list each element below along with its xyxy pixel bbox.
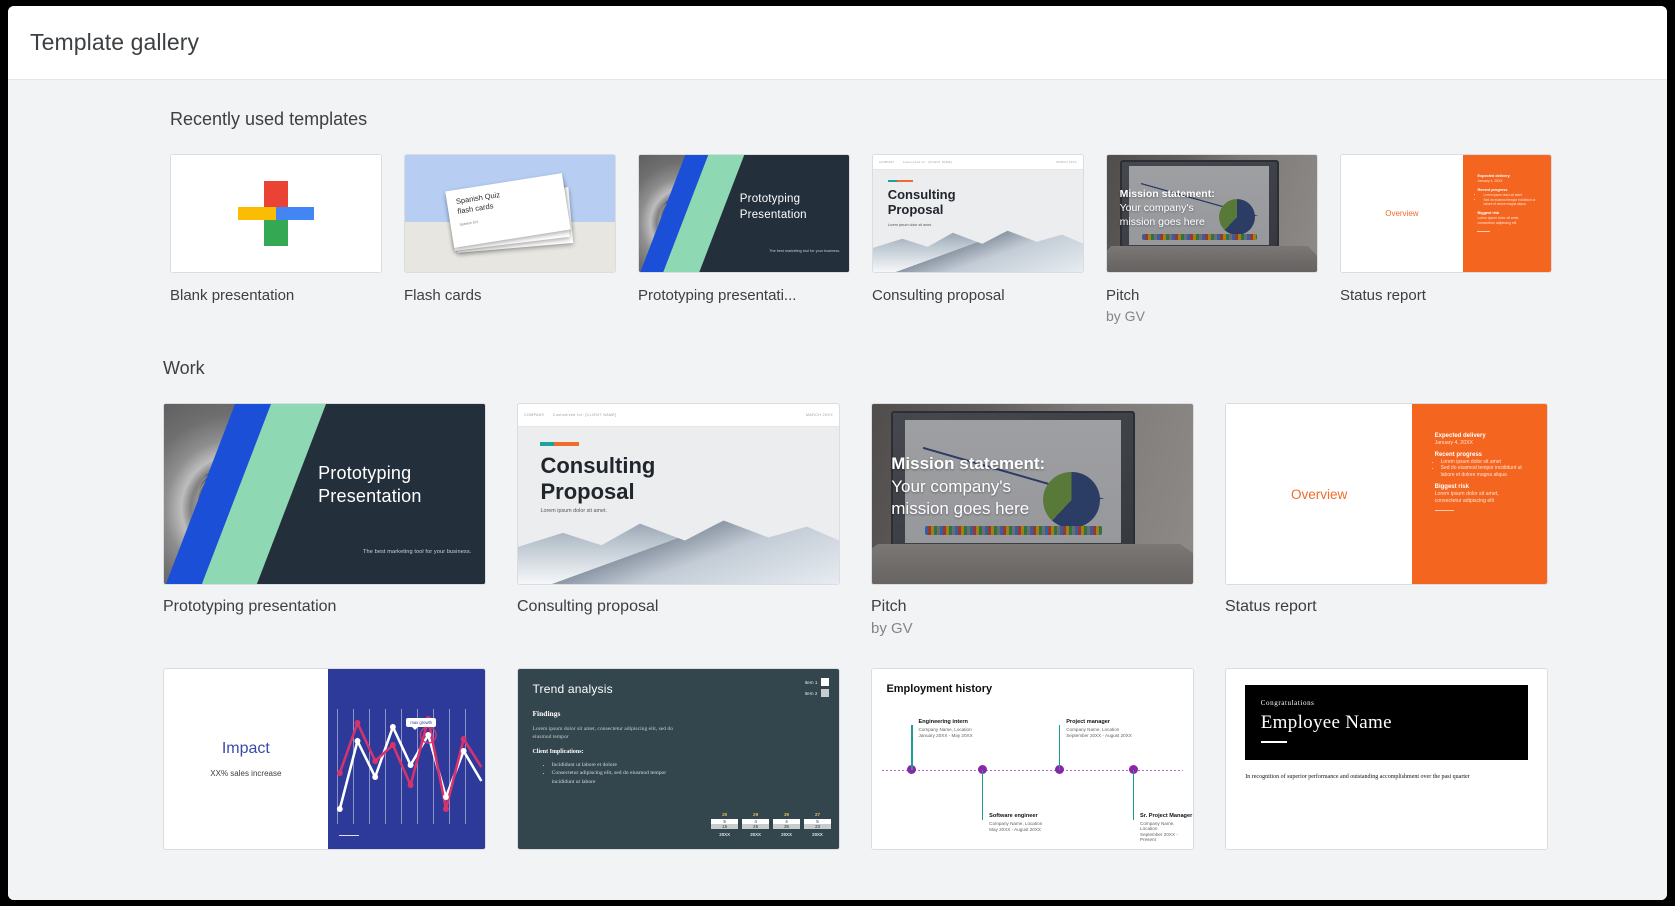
status-overview-label: Overview — [1291, 487, 1347, 502]
template-label: Flash cards — [404, 287, 609, 304]
page-title: Template gallery — [30, 29, 199, 56]
template-author: by GV — [1106, 308, 1318, 324]
trend-bullet-2: Consectetur adipiscing elit, sed do eius… — [552, 769, 682, 786]
consult-date: MARCH 20XX — [1056, 161, 1077, 164]
impact-title: Impact — [222, 740, 270, 758]
status-h3: Biggest risk — [1435, 484, 1525, 490]
timeline-entry: Software engineer Company Name, Location… — [989, 813, 1042, 832]
template-author: by GV — [871, 620, 1194, 637]
employment-history-art: Employment history Engineering — [872, 669, 1193, 849]
template-card-employment-history[interactable]: Employment history Engineering — [871, 668, 1194, 850]
consulting-art: COMPANY Customized for: [CLIENT NAME] MA… — [873, 155, 1083, 272]
pitch-line3: mission goes here — [1120, 215, 1215, 229]
status-b2: Sed do eiusmod tempor incididunt ut labo… — [1441, 465, 1525, 479]
pitch-line1: Mission statement: — [1120, 188, 1215, 200]
consult-subtitle: Lorem ipsum dolor sit amet. — [540, 508, 607, 514]
congrats-label: Congratulations — [1261, 699, 1512, 707]
timeline-axis — [882, 770, 1184, 771]
template-card-consulting-proposal-large[interactable]: COMPANY Customized for: [CLIENT NAME] MA… — [517, 403, 840, 637]
entry-company: Company Name, Location — [989, 821, 1042, 826]
recognition-text: In recognition of superior performance a… — [1245, 773, 1528, 783]
recent-section-title: Recently used templates — [170, 109, 1667, 130]
proto-title-line1: Prototyping — [318, 462, 421, 486]
work-templates-grid: Prototyping Presentation The best market… — [163, 403, 1667, 850]
prototyping-art: Prototyping Presentation The best market… — [164, 404, 485, 584]
template-gallery-window: Template gallery Recently used templates… — [8, 6, 1667, 900]
consult-title-line1: Consulting — [540, 453, 655, 479]
trend-bullet-1: Incididunt ut labore et dolore — [552, 761, 682, 770]
template-label: Prototyping presentati... — [638, 287, 843, 304]
consult-title-line2: Proposal — [540, 479, 655, 505]
entry-company: Company Name, Location — [1066, 727, 1132, 732]
flash-cards-art: Spanish Quiz flash cards Spanish 101 — [405, 155, 615, 272]
pitch-line2: Your company's — [1120, 201, 1215, 215]
timeline-stem — [982, 770, 984, 820]
bar-x-label: 20XX — [781, 832, 792, 837]
template-card-blank-presentation[interactable]: Blank presentation — [170, 154, 382, 324]
template-card-impact[interactable]: Impact XX% sales increase — [163, 668, 486, 850]
entry-company: Company Name, Location — [919, 727, 973, 732]
timeline-entry: Engineering intern Company Name, Locatio… — [919, 719, 973, 738]
bar-segment-item2: 35 — [773, 824, 800, 829]
impact-art: Impact XX% sales increase — [164, 669, 485, 849]
status-h2: Recent progress — [1477, 188, 1536, 192]
prototyping-art: Prototyping Presentation The best market… — [639, 155, 849, 272]
pitch-line3: mission goes here — [891, 498, 1045, 521]
work-section-title: Work — [163, 358, 1667, 379]
timeline-stem — [911, 725, 913, 770]
status-report-art: Overview Expected delivery January 4, 20… — [1226, 404, 1547, 584]
template-thumbnail[interactable]: Spanish Quiz flash cards Spanish 101 — [404, 154, 616, 273]
consulting-art: COMPANY Customized for: [CLIENT NAME] MA… — [518, 404, 839, 584]
legend-label-2: Item 2 — [805, 691, 818, 696]
template-label: Pitch — [1106, 287, 1311, 304]
status-report-art: Overview Expected delivery January 4, 20… — [1341, 155, 1551, 272]
entry-dates: September 20XX - August 20XX — [1066, 733, 1132, 738]
template-card-consulting-proposal[interactable]: COMPANY Customized for: [CLIENT NAME] MA… — [872, 154, 1084, 324]
status-h1: Expected delivery — [1477, 174, 1536, 178]
employment-title: Employment history — [886, 683, 992, 695]
timeline-stem — [1133, 770, 1135, 820]
bar-x-label: 20XX — [750, 832, 761, 837]
impact-subtitle: XX% sales increase — [210, 769, 281, 778]
status-p1: January 4, 20XX — [1477, 179, 1536, 183]
entry-dates: September 20XX - Present — [1140, 832, 1193, 842]
recent-templates-row: Blank presentation Spanish Quiz flash ca… — [170, 154, 1667, 324]
legend-swatch-2 — [821, 689, 829, 697]
proto-title-line2: Presentation — [318, 485, 421, 509]
entry-dates: May 20XX - August 20XX — [989, 827, 1042, 832]
app-header: Template gallery — [8, 6, 1667, 80]
blank-presentation-art — [171, 155, 381, 272]
template-thumbnail[interactable]: Overview Expected delivery January 4, 20… — [1225, 403, 1548, 585]
template-thumbnail[interactable]: Mission statement: Your company's missio… — [871, 403, 1194, 585]
consult-title-line1: Consulting — [888, 187, 956, 202]
employee-name: Employee Name — [1261, 712, 1512, 734]
template-thumbnail[interactable]: Mission statement: Your company's missio… — [1106, 154, 1318, 273]
status-h1: Expected delivery — [1435, 433, 1525, 439]
bar-x-label: 20XX — [812, 832, 823, 837]
template-card-flash-cards[interactable]: Spanish Quiz flash cards Spanish 101 Fla… — [404, 154, 616, 324]
proto-subtitle: The best marketing tool for your busines… — [769, 249, 840, 253]
template-label: Status report — [1340, 287, 1545, 304]
entry-dates: January 20XX - May 20XX — [919, 733, 973, 738]
status-p3: Lorem ipsum dolor sit amet, consectetur … — [1477, 216, 1536, 225]
plus-icon-horizontal — [238, 207, 314, 220]
template-thumbnail[interactable]: Prototyping Presentation The best market… — [638, 154, 850, 273]
proto-title-line1: Prototyping — [740, 192, 807, 207]
pitch-art: Mission statement: Your company's missio… — [1107, 155, 1317, 272]
trend-analysis-art: Trend analysis Findings Lorem ipsum dolo… — [518, 669, 839, 849]
template-card-prototyping-presentation[interactable]: Prototyping Presentation The best market… — [638, 154, 850, 324]
timeline-entry: Project manager Company Name, Location S… — [1066, 719, 1132, 738]
bar-group: 27 5 23 20XX — [804, 812, 831, 837]
status-b2: Sed do eiusmod tempor incididunt ut labo… — [1483, 198, 1536, 207]
bar-segment-item2: 23 — [804, 824, 831, 829]
consult-date: MARCH 20XX — [806, 413, 833, 417]
bar-segment-item2: 25 — [742, 824, 769, 829]
template-label: Consulting proposal — [517, 598, 840, 616]
consult-customer: Customized for: [CLIENT NAME] — [553, 413, 617, 417]
template-label: Blank presentation — [170, 287, 375, 304]
template-card-pitch[interactable]: Mission statement: Your company's missio… — [1106, 154, 1318, 324]
legend-label-1: Item 1 — [805, 680, 818, 685]
consult-brand: COMPANY — [524, 413, 545, 417]
timeline-entry: Sr. Project Manager Company Name, Locati… — [1140, 813, 1193, 842]
legend-swatch-1 — [821, 678, 829, 686]
trend-title: Trend analysis — [532, 682, 612, 696]
template-thumbnail[interactable]: COMPANY Customized for: [CLIENT NAME] MA… — [517, 403, 840, 585]
bar-group: 20 5 15 20XX — [711, 812, 738, 837]
proto-subtitle: The best marketing tool for your busines… — [363, 549, 471, 555]
template-card-pitch-large[interactable]: Mission statement: Your company's missio… — [871, 403, 1194, 637]
entry-role: Sr. Project Manager — [1140, 813, 1193, 819]
trend-bar-chart: 20 5 15 20XX 29 — [696, 744, 831, 838]
trend-implications-heading: Client Implications: — [532, 749, 583, 755]
template-thumbnail[interactable] — [170, 154, 382, 273]
status-p3: Lorem ipsum dolor sit amet, consectetur … — [1435, 491, 1525, 505]
template-thumbnail[interactable]: Impact XX% sales increase — [163, 668, 486, 850]
bar-total-label: 27 — [815, 812, 820, 817]
status-h3: Biggest risk — [1477, 211, 1536, 215]
entry-role: Software engineer — [989, 813, 1042, 819]
consult-customer: Customized for: [CLIENT NAME] — [903, 161, 952, 164]
consult-title-line2: Proposal — [888, 202, 956, 217]
bar-total-label: 39 — [784, 812, 789, 817]
template-thumbnail[interactable]: Employment history Engineering — [871, 668, 1194, 850]
bar-x-label: 20XX — [719, 832, 730, 837]
trend-legend: Item 1 Item 2 — [805, 678, 830, 700]
bar-total-label: 20 — [722, 812, 727, 817]
status-h2: Recent progress — [1435, 452, 1525, 458]
bar-group: 39 4 35 20XX — [773, 812, 800, 837]
pitch-line1: Mission statement: — [891, 454, 1045, 473]
template-card-employee-recognition[interactable]: Congratulations Employee Name In recogni… — [1225, 668, 1548, 850]
template-label: Status report — [1225, 598, 1548, 616]
impact-line-chart-svg — [328, 669, 485, 849]
bar-segment-item2: 15 — [711, 824, 738, 829]
bar-total-label: 29 — [753, 812, 758, 817]
template-label: Pitch — [871, 598, 1194, 616]
timeline-stem — [1059, 725, 1061, 770]
gallery-body: Recently used templates Blank presentati… — [8, 81, 1667, 900]
template-thumbnail[interactable]: COMPANY Customized for: [CLIENT NAME] MA… — [872, 154, 1084, 273]
entry-role: Engineering intern — [919, 719, 973, 725]
entry-company: Company Name, Location — [1140, 821, 1193, 831]
template-thumbnail[interactable]: Prototyping Presentation The best market… — [163, 403, 486, 585]
status-b1: Lorem ipsum dolor sit amet — [1441, 459, 1525, 466]
trend-findings-heading: Findings — [532, 709, 560, 718]
template-card-prototyping-presentation-large[interactable]: Prototyping Presentation The best market… — [163, 403, 486, 637]
employee-recognition-art: Congratulations Employee Name In recogni… — [1226, 669, 1547, 849]
pitch-line2: Your company's — [891, 476, 1045, 499]
template-card-status-report-large[interactable]: Overview Expected delivery January 4, 20… — [1225, 403, 1548, 637]
template-label: Consulting proposal — [872, 287, 1077, 304]
recent-section: Recently used templates Blank presentati… — [8, 81, 1667, 324]
consult-subtitle: Lorem ipsum dolor sit amet. — [888, 223, 932, 227]
entry-role: Project manager — [1066, 719, 1132, 725]
template-card-status-report[interactable]: Overview Expected delivery January 4, 20… — [1340, 154, 1552, 324]
pitch-art: Mission statement: Your company's missio… — [872, 404, 1193, 584]
status-p1: January 4, 20XX — [1435, 440, 1525, 447]
trend-findings-text: Lorem ipsum dolor sit amet, consectetur … — [532, 725, 673, 742]
template-thumbnail[interactable]: Congratulations Employee Name In recogni… — [1225, 668, 1548, 850]
status-overview-label: Overview — [1385, 209, 1418, 218]
template-label: Prototyping presentation — [163, 598, 486, 616]
impact-chart: max growth — [328, 669, 485, 849]
proto-title-line2: Presentation — [740, 208, 807, 223]
work-section: Work Prototyping Presentation The best m… — [8, 324, 1667, 850]
template-card-trend-analysis[interactable]: Trend analysis Findings Lorem ipsum dolo… — [517, 668, 840, 850]
consult-brand: COMPANY — [879, 161, 895, 164]
bar-group: 29 4 25 20XX — [742, 812, 769, 837]
impact-annotation: max growth — [406, 718, 436, 727]
template-thumbnail[interactable]: Overview Expected delivery January 4, 20… — [1340, 154, 1552, 273]
underline-rule — [1261, 741, 1287, 743]
template-thumbnail[interactable]: Trend analysis Findings Lorem ipsum dolo… — [517, 668, 840, 850]
